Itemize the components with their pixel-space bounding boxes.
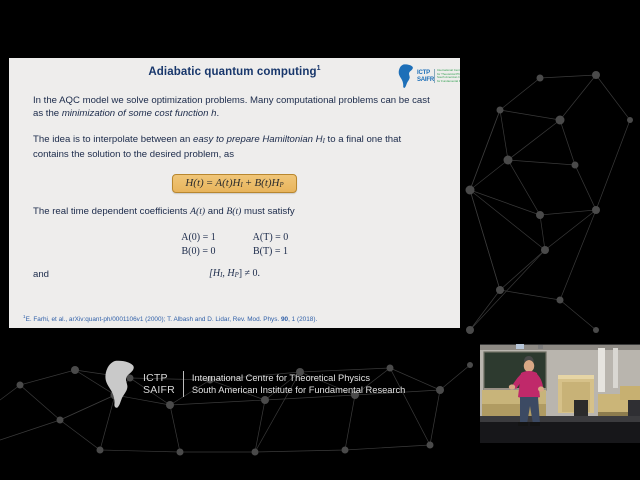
banner-full-line1: International Centre for Theoretical Phy… [192,372,405,384]
paragraph1-part2: . [216,108,219,119]
equation-term1-subscript: I [240,182,242,189]
equation-term2-subscript: P [279,182,283,189]
slide-logo-acronym: ICTP SAIFR [417,70,434,83]
paragraph2-part1: The idea is to interpolate between an [33,134,193,145]
equation-equals: = [206,177,212,189]
slide-title: Adiabatic quantum computing1 [9,65,460,78]
south-america-map-icon [398,64,415,88]
banner-acronym-line1: ICTP [143,372,175,384]
paragraph3-part1: The real time dependent coefficients [33,206,190,217]
south-america-map-icon [104,360,138,408]
commutator-comma: , H [222,268,234,279]
paragraph1-emphasis: minimization of some cost function h [62,108,217,119]
footnote-tail: , 1 (2018). [288,316,317,323]
speaker-video-thumbnail[interactable] [480,342,640,447]
condition-row: B(0) = 0B(T) = 1 [9,245,460,259]
hamiltonian-equation-box: H(t) = A(t)HI + B(t)HP [172,174,296,193]
commutator-close: ] ≠ 0. [239,268,260,279]
lecture-hall-scene [480,342,640,447]
condition-row: A(0) = 1A(T) = 0 [9,231,460,245]
slide-logo-acronym-line2: SAIFR [417,77,434,84]
presentation-slide: Adiabatic quantum computing1 ICTP SAIFR … [9,58,460,328]
paragraph-coefficients: The real time dependent coefficients A(t… [9,205,460,218]
bottom-banner: ICTP SAIFR International Centre for Theo… [0,338,478,448]
commutator-row: and [HI, HP] ≠ 0. [9,268,460,284]
banner-acronym: ICTP SAIFR [143,372,175,396]
paragraph-aqc-model: In the AQC model we solve optimization p… [9,94,460,121]
equation-box-wrapper: H(t) = A(t)HI + B(t)HP [9,173,460,193]
condition-b-initial: B(0) = 0 [163,245,235,259]
slide-logo: ICTP SAIFR International Centre for Theo… [398,63,454,89]
slide-title-footnote-marker: 1 [317,65,321,72]
boundary-conditions: A(0) = 1A(T) = 0 B(0) = 0B(T) = 1 [9,231,460,259]
slide-logo-subtitle: International Centre for Theoretical Phy… [434,69,460,83]
equation-term2: B(t)H [254,177,279,189]
paragraph3-math-a: A(t) [190,206,205,217]
banner-full-line2: South American Institute for Fundamental… [192,384,405,396]
paragraph-interpolation: The idea is to interpolate between an ea… [9,133,460,162]
equation-plus: + [245,177,251,189]
banner-divider [183,371,184,397]
commutator-equation: [HI, HP] ≠ 0. [9,268,460,279]
commutator-open: [H [209,268,220,279]
paragraph3-math-b: B(t) [226,206,241,217]
paragraph3-part3: must satisfy [241,206,294,217]
screen: Adiabatic quantum computing1 ICTP SAIFR … [0,0,640,480]
banner-acronym-line2: SAIFR [143,384,175,396]
banner-logo: ICTP SAIFR International Centre for Theo… [104,360,405,408]
slide-footnote: 1E. Farhi, et al., arXiv:quant-ph/000110… [23,314,317,323]
paragraph2-emphasis: easy to prepare Hamiltonian H [193,134,323,145]
banner-full-name: International Centre for Theoretical Phy… [192,372,405,396]
equation-term1: A(t)H [215,177,240,189]
slide-title-row: Adiabatic quantum computing1 ICTP SAIFR … [9,58,460,88]
condition-b-final: B(T) = 1 [235,245,307,259]
slide-logo-sub-line4: for Fundamental Research [437,80,460,84]
equation-lhs: H(t) [185,177,203,189]
condition-a-initial: A(0) = 1 [163,231,235,245]
paragraph3-part2: and [205,206,226,217]
footnote-reference: E. Farhi, et al., arXiv:quant-ph/0001106… [26,316,281,323]
slide-title-text: Adiabatic quantum computing [148,66,316,78]
condition-a-final: A(T) = 0 [235,231,307,245]
